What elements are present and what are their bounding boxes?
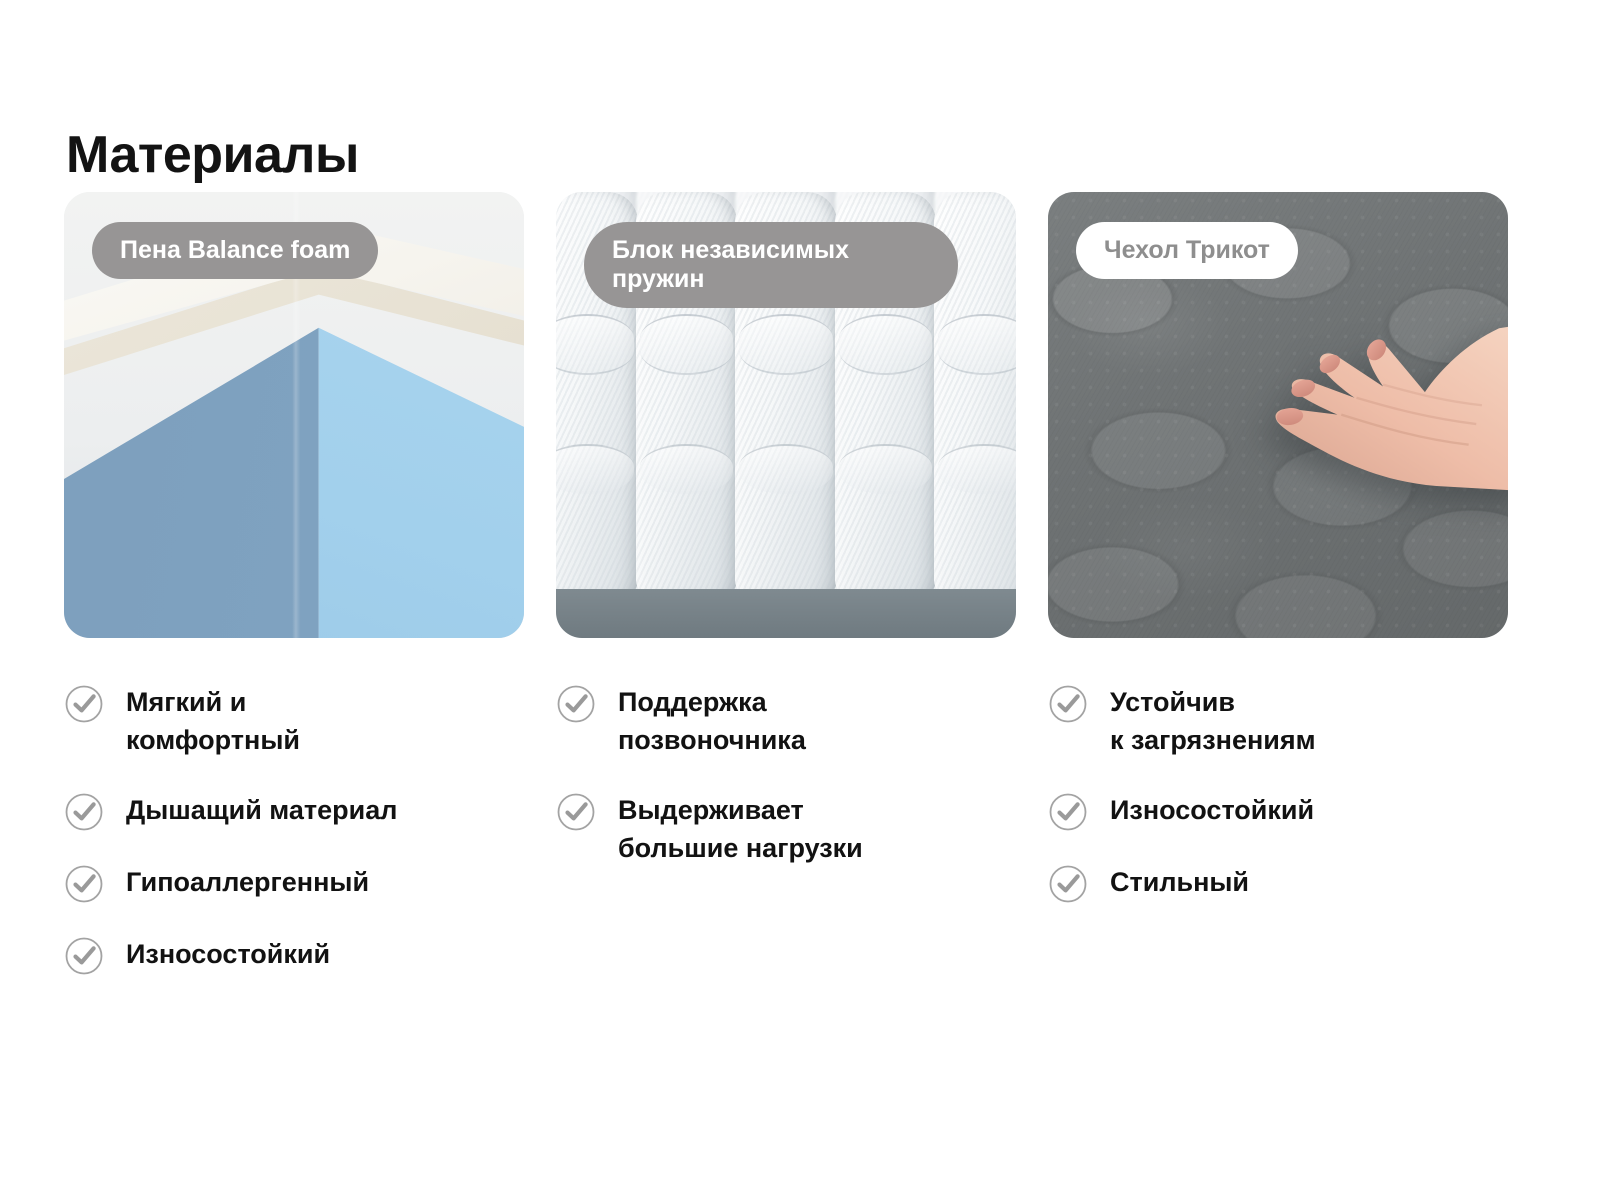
check-circle-icon <box>1048 864 1088 904</box>
page-title: Материалы <box>66 129 359 181</box>
check-circle-icon <box>64 936 104 976</box>
check-circle-icon <box>556 792 596 832</box>
material-card-foam: Пена Balance foam <box>64 192 524 638</box>
feature-label: Износостойкий <box>126 934 330 973</box>
material-badge-foam: Пена Balance foam <box>92 222 378 279</box>
feature-label: Поддержка позвоночника <box>618 682 806 760</box>
feature-item: Дышащий материал <box>64 790 524 832</box>
feature-item: Износостойкий <box>64 934 524 976</box>
check-circle-icon <box>1048 684 1088 724</box>
material-column-foam: Пена Balance foam Мягкий и комфортный <box>64 192 524 976</box>
feature-label: Устойчив к загрязнениям <box>1110 682 1316 760</box>
material-badge-springs: Блок независимых пружин <box>584 222 958 308</box>
check-circle-icon <box>1048 792 1088 832</box>
feature-list-springs: Поддержка позвоночника Выдерживает больш… <box>556 682 1016 867</box>
material-column-cover: Чехол Трикот Устойчив к загрязнениям <box>1048 192 1508 976</box>
hand-illustration <box>1250 317 1508 495</box>
feature-label: Гипоаллергенный <box>126 862 369 901</box>
feature-item: Устойчив к загрязнениям <box>1048 682 1508 760</box>
check-circle-icon <box>64 684 104 724</box>
feature-item: Износостойкий <box>1048 790 1508 832</box>
material-column-springs: Блок независимых пружин Поддержка позвон… <box>556 192 1016 976</box>
material-card-cover: Чехол Трикот <box>1048 192 1508 638</box>
feature-label: Выдерживает большие нагрузки <box>618 790 863 868</box>
materials-columns: Пена Balance foam Мягкий и комфортный <box>64 192 1512 976</box>
material-badge-cover: Чехол Трикот <box>1076 222 1298 279</box>
feature-item: Мягкий и комфортный <box>64 682 524 760</box>
feature-label: Износостойкий <box>1110 790 1314 829</box>
feature-label: Дышащий материал <box>126 790 397 829</box>
check-circle-icon <box>64 864 104 904</box>
check-circle-icon <box>556 684 596 724</box>
feature-label: Стильный <box>1110 862 1249 901</box>
feature-item: Стильный <box>1048 862 1508 904</box>
feature-label: Мягкий и комфортный <box>126 682 300 760</box>
feature-item: Выдерживает большие нагрузки <box>556 790 1016 868</box>
feature-list-cover: Устойчив к загрязнениям Износостойкий <box>1048 682 1508 904</box>
feature-item: Поддержка позвоночника <box>556 682 1016 760</box>
material-card-springs: Блок независимых пружин <box>556 192 1016 638</box>
feature-item: Гипоаллергенный <box>64 862 524 904</box>
check-circle-icon <box>64 792 104 832</box>
materials-page: Материалы Пена Balance foam <box>0 0 1600 1200</box>
feature-list-foam: Мягкий и комфортный Дышащий материал <box>64 682 524 976</box>
